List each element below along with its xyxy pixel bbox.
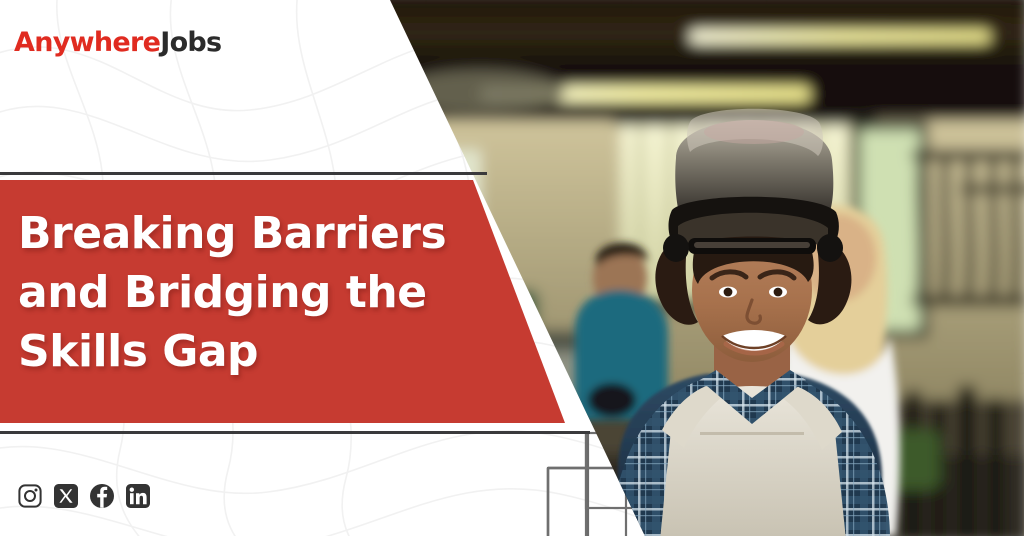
brand-logo[interactable]: AnywhereJobs bbox=[14, 28, 221, 58]
linkedin-icon[interactable] bbox=[126, 484, 150, 508]
headline-line-2: and Bridging the bbox=[18, 263, 458, 322]
divider-line-bottom bbox=[0, 431, 590, 434]
social-link-linkedin[interactable] bbox=[126, 484, 150, 508]
page-title: Breaking Barriers and Bridging the Skill… bbox=[18, 204, 458, 381]
divider-line-top bbox=[0, 172, 487, 175]
headline-line-1: Breaking Barriers bbox=[18, 204, 458, 263]
headline-line-3: Skills Gap bbox=[18, 322, 458, 381]
x-twitter-icon[interactable] bbox=[54, 484, 78, 508]
logo-text-jobs: Jobs bbox=[160, 27, 221, 58]
social-link-instagram[interactable] bbox=[18, 484, 42, 508]
social-links-bar bbox=[18, 484, 150, 508]
social-link-facebook[interactable] bbox=[90, 484, 114, 508]
social-link-x-twitter[interactable] bbox=[54, 484, 78, 508]
blog-banner-card: Breaking Barriers and Bridging the Skill… bbox=[0, 0, 1024, 536]
instagram-icon[interactable] bbox=[18, 484, 42, 508]
facebook-icon[interactable] bbox=[90, 484, 114, 508]
logo-text-anywhere: Anywhere bbox=[14, 27, 160, 58]
